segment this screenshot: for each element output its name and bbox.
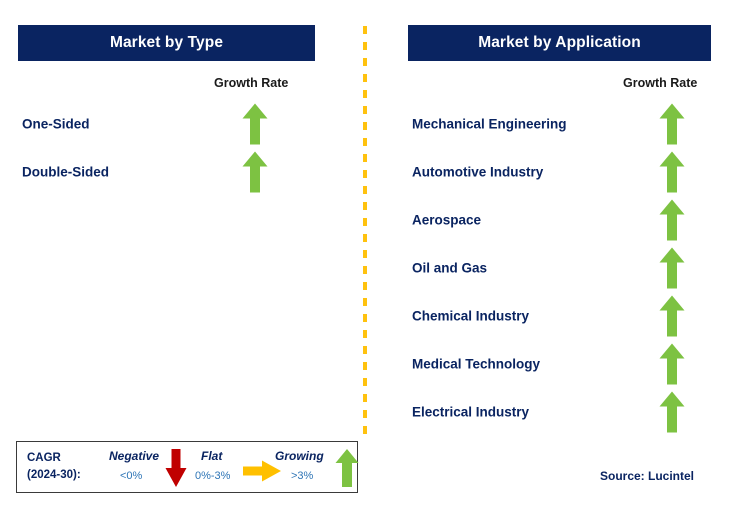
- row-label: Mechanical Engineering: [412, 117, 567, 132]
- right-arrow-icon: [243, 460, 281, 482]
- table-row: One-Sided: [0, 102, 364, 146]
- up-arrow-icon: [659, 200, 685, 241]
- table-row: Oil and Gas: [364, 246, 729, 290]
- vertical-dashed-divider: [363, 26, 367, 436]
- down-arrow-icon: [165, 449, 187, 487]
- legend-cagr-line1: CAGR: [27, 450, 81, 467]
- legend-term-negative: Negative: [109, 449, 159, 463]
- legend-box: CAGR (2024-30): Negative <0% Flat 0%-3% …: [16, 441, 358, 493]
- panel-market-by-application: Market by Application Growth Rate Mechan…: [364, 0, 729, 522]
- up-arrow-icon: [659, 104, 685, 145]
- up-arrow-icon: [659, 248, 685, 289]
- row-label: Oil and Gas: [412, 261, 487, 276]
- row-label: Aerospace: [412, 213, 481, 228]
- table-row: Aerospace: [364, 198, 729, 242]
- legend-term-growing: Growing: [275, 449, 324, 463]
- up-arrow-icon: [659, 152, 685, 193]
- up-arrow-icon: [335, 449, 359, 487]
- row-label: Double-Sided: [22, 165, 109, 180]
- legend-value-flat: 0%-3%: [195, 470, 230, 482]
- legend-term-flat: Flat: [201, 449, 222, 463]
- up-arrow-icon: [659, 344, 685, 385]
- legend-value-negative: <0%: [120, 470, 142, 482]
- column-header-growth-rate-type: Growth Rate: [214, 76, 288, 90]
- up-arrow-icon: [659, 392, 685, 433]
- up-arrow-icon: [242, 104, 268, 145]
- table-row: Automotive Industry: [364, 150, 729, 194]
- legend-value-growing: >3%: [291, 470, 313, 482]
- row-label: Electrical Industry: [412, 405, 529, 420]
- column-header-growth-rate-application: Growth Rate: [623, 76, 697, 90]
- row-label: One-Sided: [22, 117, 90, 132]
- legend-cagr-line2: (2024-30):: [27, 467, 81, 484]
- table-row: Mechanical Engineering: [364, 102, 729, 146]
- row-label: Chemical Industry: [412, 309, 529, 324]
- table-row: Double-Sided: [0, 150, 364, 194]
- panel-title-market-by-type: Market by Type: [18, 25, 315, 61]
- table-row: Chemical Industry: [364, 294, 729, 338]
- row-label: Medical Technology: [412, 357, 540, 372]
- source-attribution: Source: Lucintel: [600, 469, 694, 483]
- up-arrow-icon: [242, 152, 268, 193]
- row-label: Automotive Industry: [412, 165, 543, 180]
- table-row: Electrical Industry: [364, 390, 729, 434]
- up-arrow-icon: [659, 296, 685, 337]
- panel-title-market-by-application: Market by Application: [408, 25, 711, 61]
- legend-cagr-title: CAGR (2024-30):: [27, 450, 81, 484]
- table-row: Medical Technology: [364, 342, 729, 386]
